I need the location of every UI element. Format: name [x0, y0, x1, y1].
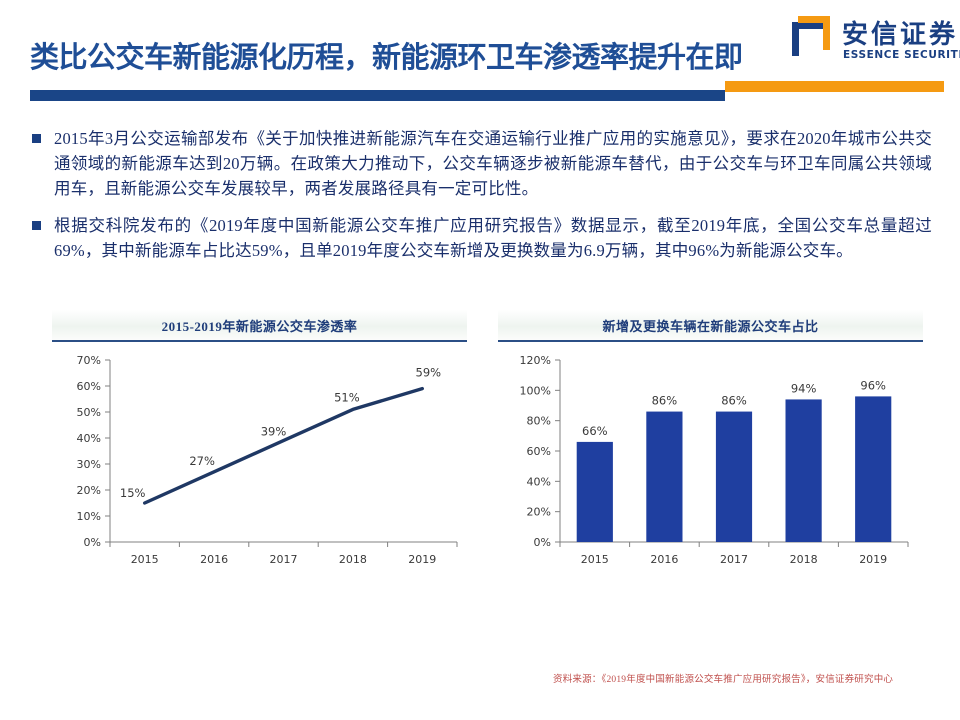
data-label: 86% — [721, 394, 747, 408]
title-rule-blue — [30, 90, 725, 101]
x-tick-label: 2019 — [859, 553, 887, 566]
x-tick-label: 2015 — [581, 553, 609, 566]
y-tick-label: 40% — [77, 432, 101, 445]
logo-name-en: ESSENCE SECURITIES — [843, 49, 960, 61]
bar-2018 — [786, 399, 822, 542]
data-label: 51% — [334, 390, 360, 404]
y-tick-label: 0% — [84, 536, 101, 549]
brand-logo: 安信证券 ESSENCE SECURITIES — [786, 10, 951, 72]
y-tick-label: 50% — [77, 406, 101, 419]
chart-title-bar-right: 新增及更换车辆在新能源公交车占比 — [498, 310, 923, 342]
chart-body-penetration: 0%10%20%30%40%50%60%70%20152016201720182… — [52, 342, 467, 590]
bar-chart-replacement: 0%20%40%60%80%100%120%66%201586%201686%2… — [498, 342, 923, 590]
bullet-item-2: 根据交科院发布的《2019年度中国新能源公交车推广应用研究报告》数据显示，截至2… — [32, 213, 932, 263]
x-tick-label: 2018 — [339, 553, 367, 566]
data-label: 94% — [791, 381, 817, 395]
y-tick-label: 100% — [520, 384, 551, 397]
y-tick-label: 80% — [527, 415, 551, 428]
y-tick-label: 20% — [77, 484, 101, 497]
y-tick-label: 60% — [527, 445, 551, 458]
bar-2019 — [855, 396, 891, 542]
data-label: 86% — [652, 394, 678, 408]
x-tick-label: 2018 — [790, 553, 818, 566]
x-tick-label: 2017 — [270, 553, 298, 566]
y-tick-label: 20% — [527, 506, 551, 519]
logo-name-cn: 安信证券 — [842, 14, 958, 51]
essence-logo-mark-icon — [786, 12, 834, 60]
data-label: 27% — [189, 454, 215, 468]
bullet-square-icon — [32, 221, 41, 230]
chart-panel-replacement: 新增及更换车辆在新能源公交车占比 0%20%40%60%80%100%120%6… — [498, 310, 923, 590]
chart-title-replacement: 新增及更换车辆在新能源公交车占比 — [498, 316, 923, 335]
y-tick-label: 30% — [77, 458, 101, 471]
x-tick-label: 2016 — [650, 553, 678, 566]
data-label: 66% — [582, 424, 608, 438]
chart-title-penetration: 2015-2019年新能源公交车渗透率 — [52, 316, 467, 335]
chart-title-bar-left: 2015-2019年新能源公交车渗透率 — [52, 310, 467, 342]
x-tick-label: 2016 — [200, 553, 228, 566]
y-tick-label: 10% — [77, 510, 101, 523]
page-title: 类比公交车新能源化历程，新能源环卫车渗透率提升在即 — [30, 34, 743, 76]
y-tick-label: 60% — [77, 380, 101, 393]
bullet-square-icon — [32, 134, 41, 143]
data-label: 96% — [860, 378, 886, 392]
y-tick-label: 120% — [520, 354, 551, 367]
x-tick-label: 2017 — [720, 553, 748, 566]
slide-header: 类比公交车新能源化历程，新能源环卫车渗透率提升在即 安信证券 ESSENCE S… — [0, 0, 960, 108]
bar-2016 — [646, 412, 682, 542]
line-series-penetration — [145, 389, 423, 503]
line-chart-penetration: 0%10%20%30%40%50%60%70%20152016201720182… — [52, 342, 467, 590]
bullet-text-2: 根据交科院发布的《2019年度中国新能源公交车推广应用研究报告》数据显示，截至2… — [54, 213, 932, 263]
bar-2015 — [577, 442, 613, 542]
chart-panel-penetration: 2015-2019年新能源公交车渗透率 0%10%20%30%40%50%60%… — [52, 310, 467, 590]
source-note: 资料来源：《2019年度中国新能源公交车推广应用研究报告》，安信证券研究中心 — [553, 671, 893, 685]
x-tick-label: 2019 — [408, 553, 436, 566]
title-rule-orange — [725, 81, 944, 92]
y-tick-label: 40% — [527, 475, 551, 488]
bar-2017 — [716, 412, 752, 542]
x-tick-label: 2015 — [131, 553, 159, 566]
chart-body-replacement: 0%20%40%60%80%100%120%66%201586%201686%2… — [498, 342, 923, 590]
bullet-item-1: 2015年3月公交运输部发布《关于加快推进新能源汽车在交通运输行业推广应用的实施… — [32, 126, 932, 201]
body-copy: 2015年3月公交运输部发布《关于加快推进新能源汽车在交通运输行业推广应用的实施… — [32, 126, 932, 275]
y-tick-label: 0% — [534, 536, 551, 549]
bullet-text-1: 2015年3月公交运输部发布《关于加快推进新能源汽车在交通运输行业推广应用的实施… — [54, 126, 932, 201]
data-label: 59% — [416, 366, 442, 380]
data-label: 15% — [120, 486, 146, 500]
data-label: 39% — [261, 425, 287, 439]
y-tick-label: 70% — [77, 354, 101, 367]
